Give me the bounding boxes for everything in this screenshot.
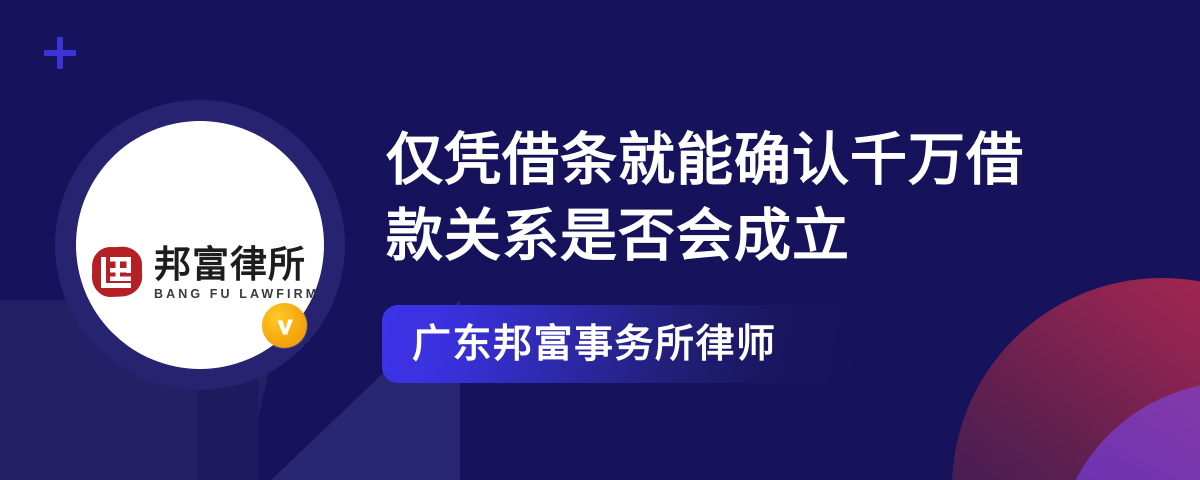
plus-icon: [44, 37, 76, 69]
page-title: 仅凭借条就能确认千万借 款关系是否会成立: [386, 122, 1086, 274]
red-seal-icon: [88, 243, 146, 301]
headline-line-2: 款关系是否会成立: [386, 198, 1086, 274]
law-firm-logo: 邦富律所 BANG FU LAWFIRM: [88, 243, 316, 301]
promo-banner: 邦富律所 BANG FU LAWFIRM 仅凭借条就能确认千万借 款关系是否会成…: [0, 0, 1200, 480]
subtitle-label: 广东邦富事务所律师: [412, 325, 777, 364]
headline-line-1: 仅凭借条就能确认千万借: [386, 122, 1086, 198]
subtitle-badge: 广东邦富事务所律师: [382, 305, 860, 383]
verified-check-icon: [262, 303, 307, 348]
logo-name-en: BANG FU LAWFIRM: [154, 288, 319, 301]
logo-text: 邦富律所 BANG FU LAWFIRM: [154, 244, 319, 301]
logo-name-cn: 邦富律所: [154, 246, 306, 283]
